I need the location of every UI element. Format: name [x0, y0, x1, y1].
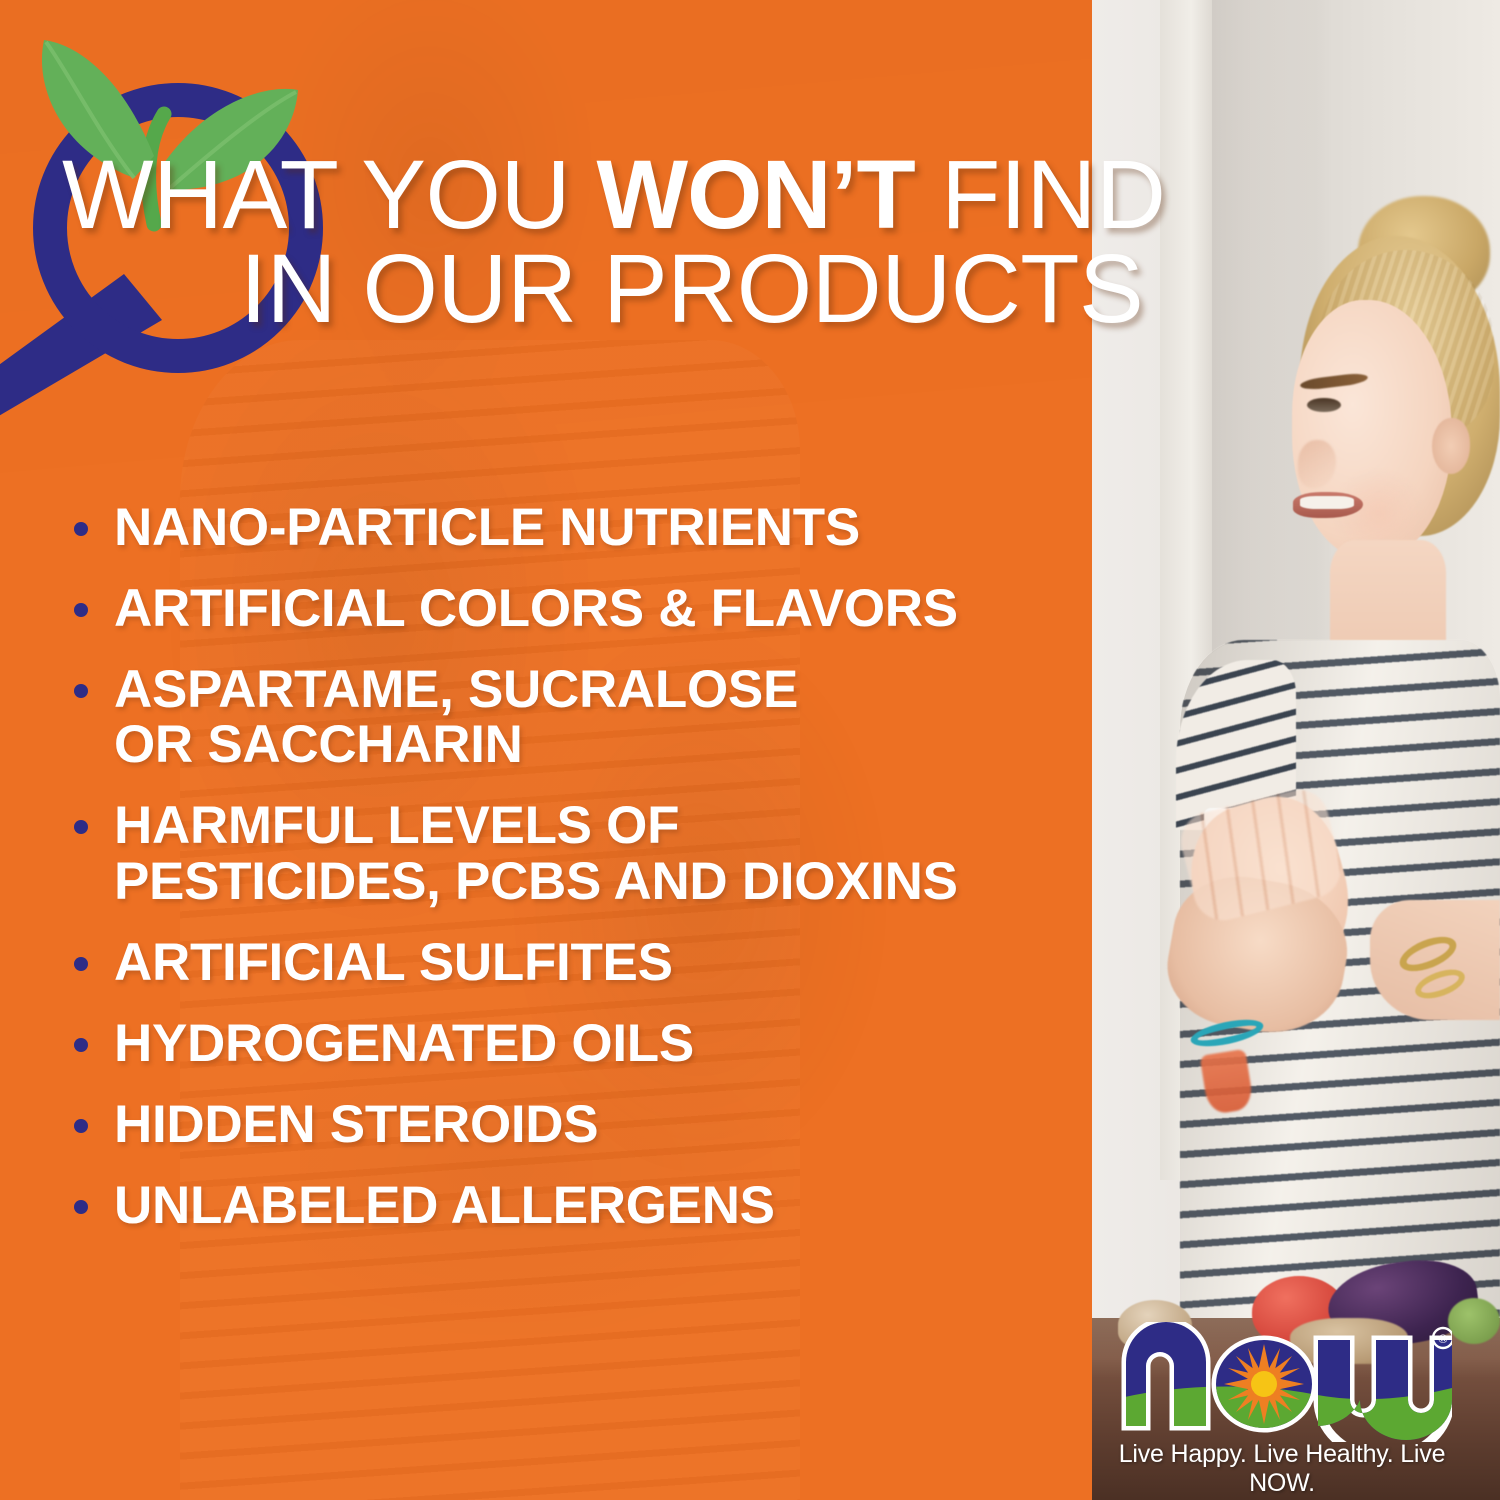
list-item: HARMFUL LEVELS OF PESTICIDES, PCBS AND D… [74, 798, 1084, 908]
list-item-label: HYDROGENATED OILS [114, 1016, 694, 1071]
page-title: WHAT YOU WON’T FIND IN OUR PRODUCTS [62, 148, 1422, 336]
list-item: HIDDEN STEROIDS [74, 1097, 1084, 1152]
headline-part-2: FIND [915, 140, 1166, 249]
list-item: NANO-PARTICLE NUTRIENTS [74, 500, 1084, 555]
list-item: UNLABELED ALLERGENS [74, 1178, 1084, 1233]
headline-part-1: WHAT YOU [62, 140, 596, 249]
bullet-dot-icon [74, 1200, 88, 1214]
list-item-label: HIDDEN STEROIDS [114, 1097, 598, 1152]
sunburst-icon [1224, 1344, 1304, 1424]
infographic-canvas: WHAT YOU WON’T FIND IN OUR PRODUCTS NANO… [0, 0, 1500, 1500]
bullet-dot-icon [74, 1119, 88, 1133]
list-item-label: ARTIFICIAL COLORS & FLAVORS [114, 581, 958, 636]
list-item: ARTIFICIAL COLORS & FLAVORS [74, 581, 1084, 636]
bullet-dot-icon [74, 603, 88, 617]
registered-mark-label: ® [1438, 1331, 1448, 1346]
list-item-label: ASPARTAME, SUCRALOSE OR SACCHARIN [114, 662, 798, 772]
bullet-dot-icon [74, 522, 88, 536]
brand-tagline: Live Happy. Live Healthy. Live NOW. [1112, 1440, 1452, 1498]
bullet-dot-icon [74, 1038, 88, 1052]
list-item-label: ARTIFICIAL SULFITES [114, 935, 673, 990]
bullet-dot-icon [74, 820, 88, 834]
bullet-dot-icon [74, 684, 88, 698]
now-wordmark: ® [1112, 1322, 1452, 1442]
bullet-dot-icon [74, 957, 88, 971]
excluded-ingredients-list: NANO-PARTICLE NUTRIENTS ARTIFICIAL COLOR… [74, 500, 1084, 1259]
list-item-label: NANO-PARTICLE NUTRIENTS [114, 500, 860, 555]
list-item-label: HARMFUL LEVELS OF PESTICIDES, PCBS AND D… [114, 798, 958, 908]
list-item: ARTIFICIAL SULFITES [74, 935, 1084, 990]
photo-eye [1307, 398, 1341, 412]
headline-line-2: IN OUR PRODUCTS [62, 242, 1422, 336]
list-item: HYDROGENATED OILS [74, 1016, 1084, 1071]
headline-emphasis: WON’T [596, 140, 914, 249]
list-item: ASPARTAME, SUCRALOSE OR SACCHARIN [74, 662, 1084, 772]
photo-teeth [1300, 496, 1354, 509]
now-brand-logo: ® Live Happy. Live Healthy. Live NOW. [1112, 1322, 1484, 1482]
photo-ear [1432, 418, 1470, 474]
list-item-label: UNLABELED ALLERGENS [114, 1178, 775, 1233]
